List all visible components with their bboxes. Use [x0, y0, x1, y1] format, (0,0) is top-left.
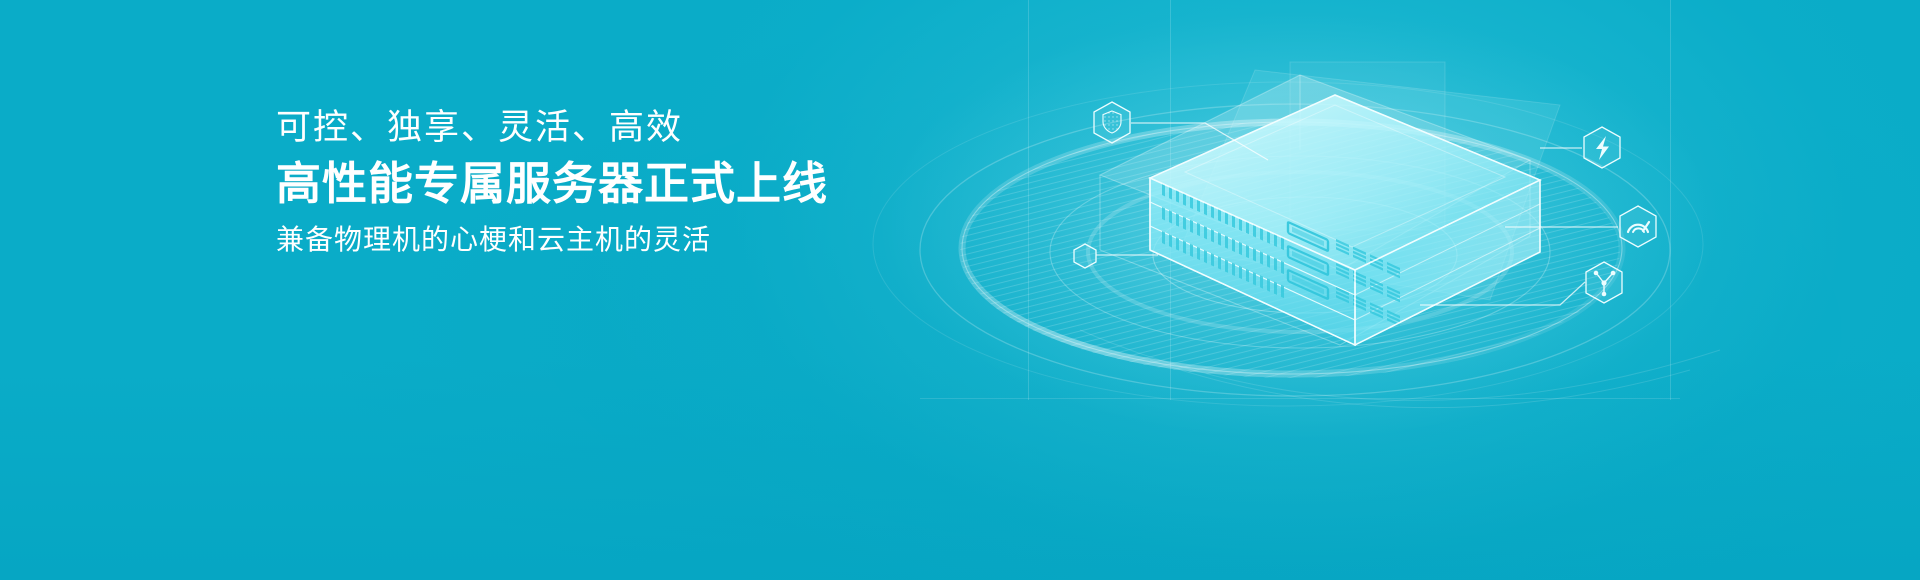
- banner-copy: 可控、独享、灵活、高效 高性能专属服务器正式上线 兼备物理机的心梗和云主机的灵活: [276, 106, 916, 258]
- promo-banner: 可控、独享、灵活、高效 高性能专属服务器正式上线 兼备物理机的心梗和云主机的灵活: [0, 0, 1920, 580]
- banner-headline: 高性能专属服务器正式上线: [276, 156, 916, 212]
- grid-line-vertical: [1670, 0, 1671, 400]
- banner-background: [0, 0, 1920, 580]
- grid-line-vertical: [1170, 0, 1171, 400]
- grid-line-horizontal: [920, 398, 1680, 399]
- banner-eyebrow: 可控、独享、灵活、高效: [276, 106, 916, 150]
- grid-line-vertical: [1028, 0, 1029, 400]
- banner-subline: 兼备物理机的心梗和云主机的灵活: [276, 222, 916, 258]
